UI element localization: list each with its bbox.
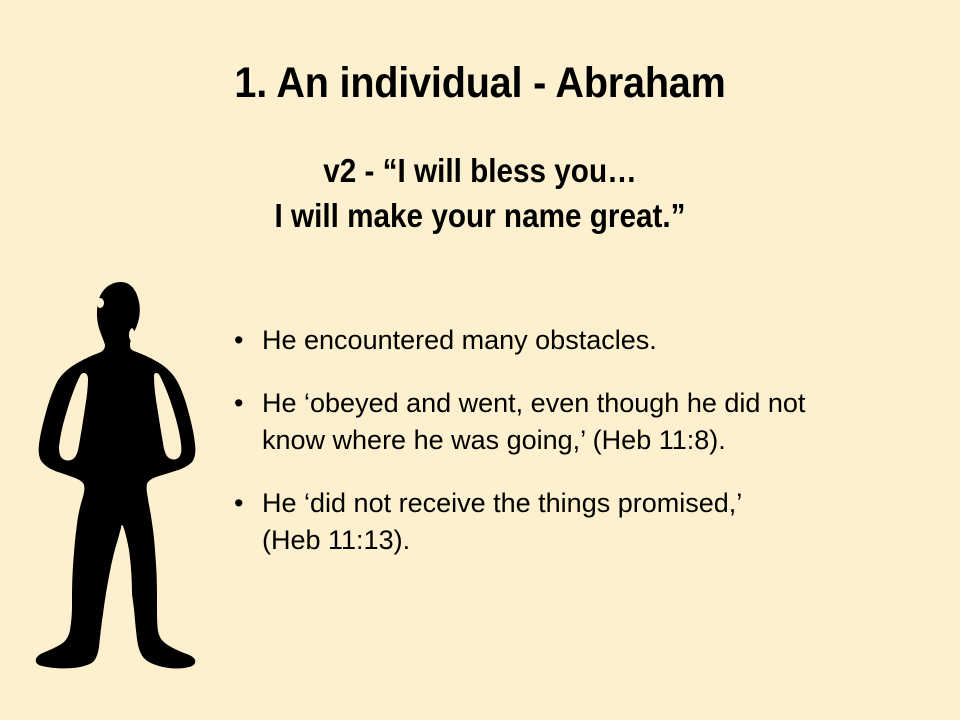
slide-canvas: 1. An individual - Abraham v2 - “I will … <box>0 0 960 720</box>
standing-man-silhouette-icon <box>26 276 216 676</box>
bullet-point-icon: • <box>234 485 243 522</box>
bullet-text: He encountered many obstacles. <box>262 322 932 359</box>
list-item: • He ‘obeyed and went, even though he di… <box>232 385 932 459</box>
subtitle-line-1: v2 - “I will bless you… <box>48 148 912 193</box>
bullet-point-icon: • <box>234 322 243 359</box>
bullet-point-icon: • <box>234 385 243 422</box>
list-item: • He ‘did not receive the things promise… <box>232 485 932 559</box>
slide-title: 1. An individual - Abraham <box>38 57 921 109</box>
bullet-text: He ‘did not receive the things promised,… <box>262 485 932 559</box>
slide-subtitle: v2 - “I will bless you… I will make your… <box>48 148 912 238</box>
bullet-text: He ‘obeyed and went, even though he did … <box>262 385 932 459</box>
silhouette-svg <box>26 276 216 676</box>
subtitle-line-2: I will make your name great.” <box>48 193 912 238</box>
list-item: • He encountered many obstacles. <box>232 322 932 359</box>
bullet-list: • He encountered many obstacles. • He ‘o… <box>232 322 932 559</box>
